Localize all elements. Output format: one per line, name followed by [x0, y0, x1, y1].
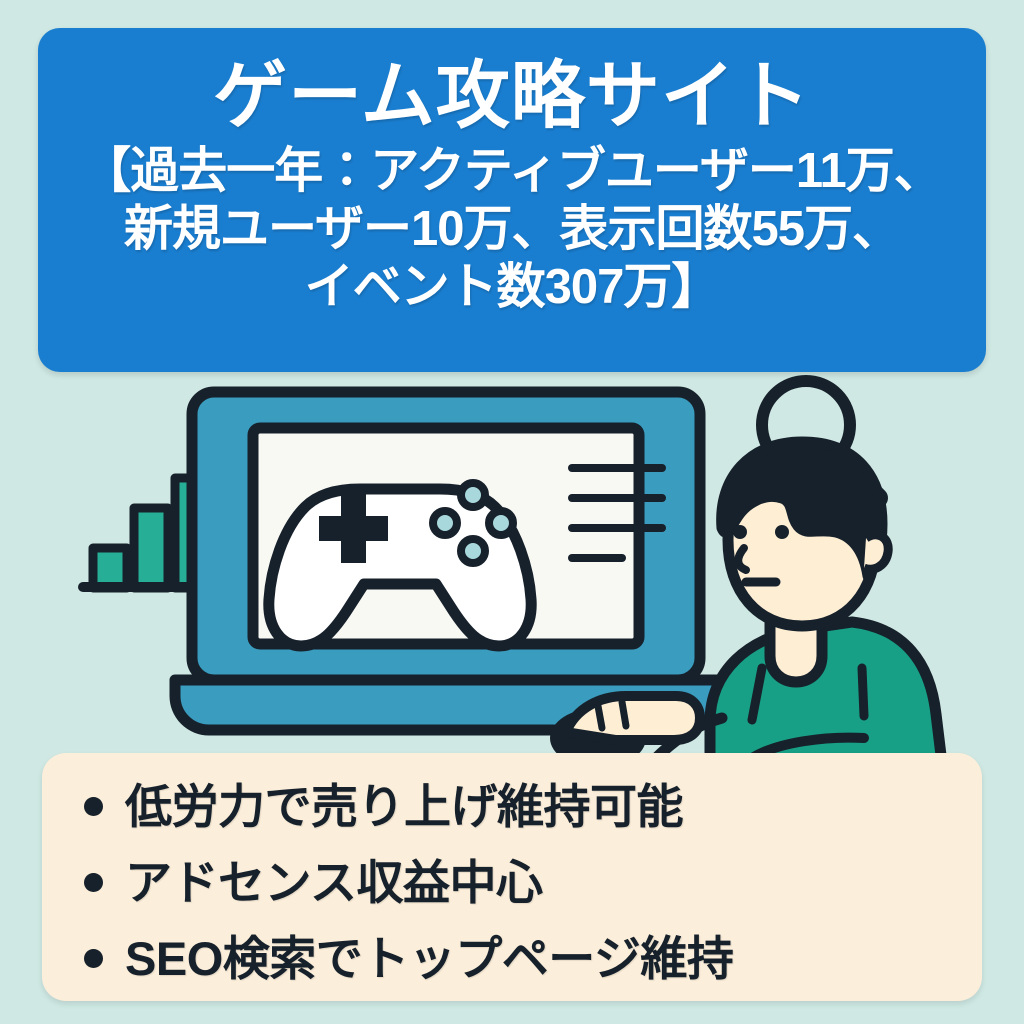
laptop-icon — [175, 392, 718, 730]
infographic-canvas: ゲーム攻略サイト 【過去一年：アクティブユーザー11万、 新規ユーザー10万、表… — [0, 0, 1024, 1024]
bullets-card: 低労力で売り上げ維持可能 アドセンス収益中心 SEO検索でトップページ維持 — [42, 753, 982, 1001]
subtitle-line-2: 新規ユーザー10万、表示回数55万、 — [82, 201, 941, 259]
bullet-label: アドセンス収益中心 — [125, 859, 543, 906]
header-subtitle: 【過去一年：アクティブユーザー11万、 新規ユーザー10万、表示回数55万、 イ… — [82, 143, 941, 316]
list-item: SEO検索でトップページ維持 — [84, 931, 982, 985]
subtitle-line-3: イベント数307万】 — [82, 259, 941, 317]
bullet-dot-icon — [84, 873, 103, 892]
bullet-label: SEO検索でトップページ維持 — [125, 935, 733, 982]
illustration — [0, 360, 1024, 780]
header-card: ゲーム攻略サイト 【過去一年：アクティブユーザー11万、 新規ユーザー10万、表… — [38, 28, 986, 372]
list-item: 低労力で売り上げ維持可能 — [84, 779, 982, 833]
page-title: ゲーム攻略サイト — [213, 52, 811, 139]
bullet-label: 低労力で売り上げ維持可能 — [125, 783, 683, 830]
bullet-dot-icon — [84, 949, 103, 968]
list-item: アドセンス収益中心 — [84, 855, 982, 909]
bullet-dot-icon — [84, 797, 103, 816]
subtitle-line-1: 【過去一年：アクティブユーザー11万、 — [82, 143, 941, 201]
